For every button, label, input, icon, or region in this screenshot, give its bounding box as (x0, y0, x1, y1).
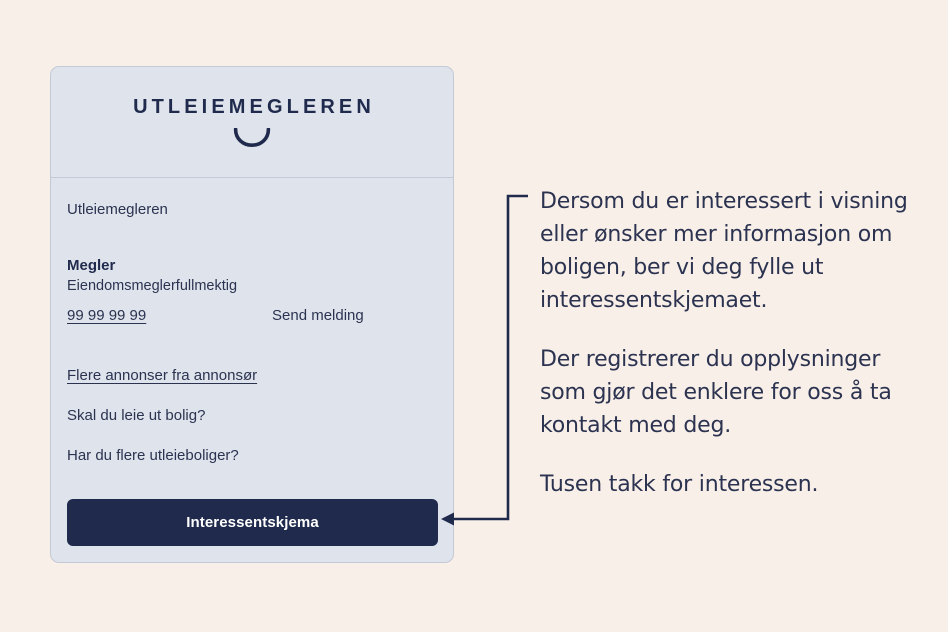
annotation-text-block: Dersom du er interessert i visning eller… (540, 185, 930, 501)
brand-wordmark: UTLEIEMEGLEREN (129, 97, 375, 117)
send-message-link[interactable]: Send melding (272, 307, 364, 324)
interest-form-button[interactable]: Interessentskjema (67, 499, 438, 546)
annotation-paragraph-2: Der registrerer du opplysninger som gjør… (540, 343, 930, 442)
link-rent-out-home[interactable]: Skal du leie ut bolig? (67, 406, 437, 426)
agent-role-heading: Megler (67, 256, 437, 275)
organisation-name: Utleiemegleren (67, 200, 437, 220)
agent-job-title: Eiendomsmeglerfullmektig (67, 277, 437, 296)
link-more-rental-homes[interactable]: Har du flere utleieboliger? (67, 446, 437, 466)
contact-row: 99 99 99 99 Send melding (67, 307, 437, 324)
annotation-paragraph-1: Dersom du er interessert i visning eller… (540, 185, 930, 317)
card-header: UTLEIEMEGLEREN (51, 67, 453, 178)
agent-contact-card: UTLEIEMEGLEREN Utleiemegleren Megler Eie… (50, 66, 454, 563)
card-body: Utleiemegleren Megler Eiendomsmeglerfull… (51, 178, 453, 466)
smile-arc-icon (233, 128, 271, 147)
link-more-ads-from-advertiser[interactable]: Flere annonser fra annonsør (67, 366, 437, 386)
secondary-link-list: Flere annonser fra annonsør Skal du leie… (67, 366, 437, 466)
phone-number-link[interactable]: 99 99 99 99 (67, 307, 272, 324)
annotation-paragraph-3: Tusen takk for interessen. (540, 468, 930, 501)
